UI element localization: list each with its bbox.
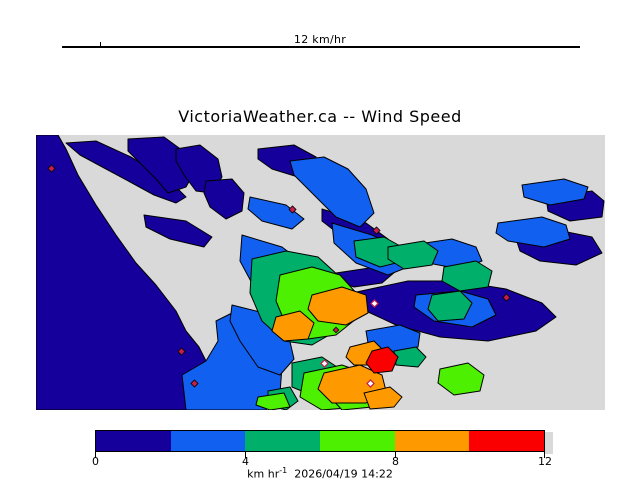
colorbar-segment-1 <box>171 431 246 451</box>
map-panel <box>36 135 605 410</box>
colorbar-segment-2 <box>245 431 320 451</box>
colorbar-segment-3 <box>320 431 395 451</box>
colorbar-segment-4 <box>395 431 470 451</box>
colorbar <box>95 430 545 452</box>
colorbar-subtitle: km hr-1 2026/04/19 14:22 <box>0 466 640 481</box>
reference-scale-label: 12 km/hr <box>0 33 640 46</box>
reference-scale-line <box>62 46 580 48</box>
page-title: VictoriaWeather.ca -- Wind Speed <box>0 107 640 126</box>
colorbar-units: km hr <box>247 468 279 481</box>
wind-speed-contour-map <box>36 135 605 410</box>
colorbar-ticks <box>95 452 545 460</box>
colorbar-shadow <box>545 432 553 454</box>
colorbar-segment-0 <box>96 431 171 451</box>
reference-scale-tick <box>100 42 101 47</box>
colorbar-units-exponent: -1 <box>279 466 287 475</box>
colorbar-segment-5 <box>469 431 544 451</box>
map-timestamp: 2026/04/19 14:22 <box>294 468 393 481</box>
weather-map-page: 12 km/hr VictoriaWeather.ca -- Wind Spee… <box>0 0 640 480</box>
